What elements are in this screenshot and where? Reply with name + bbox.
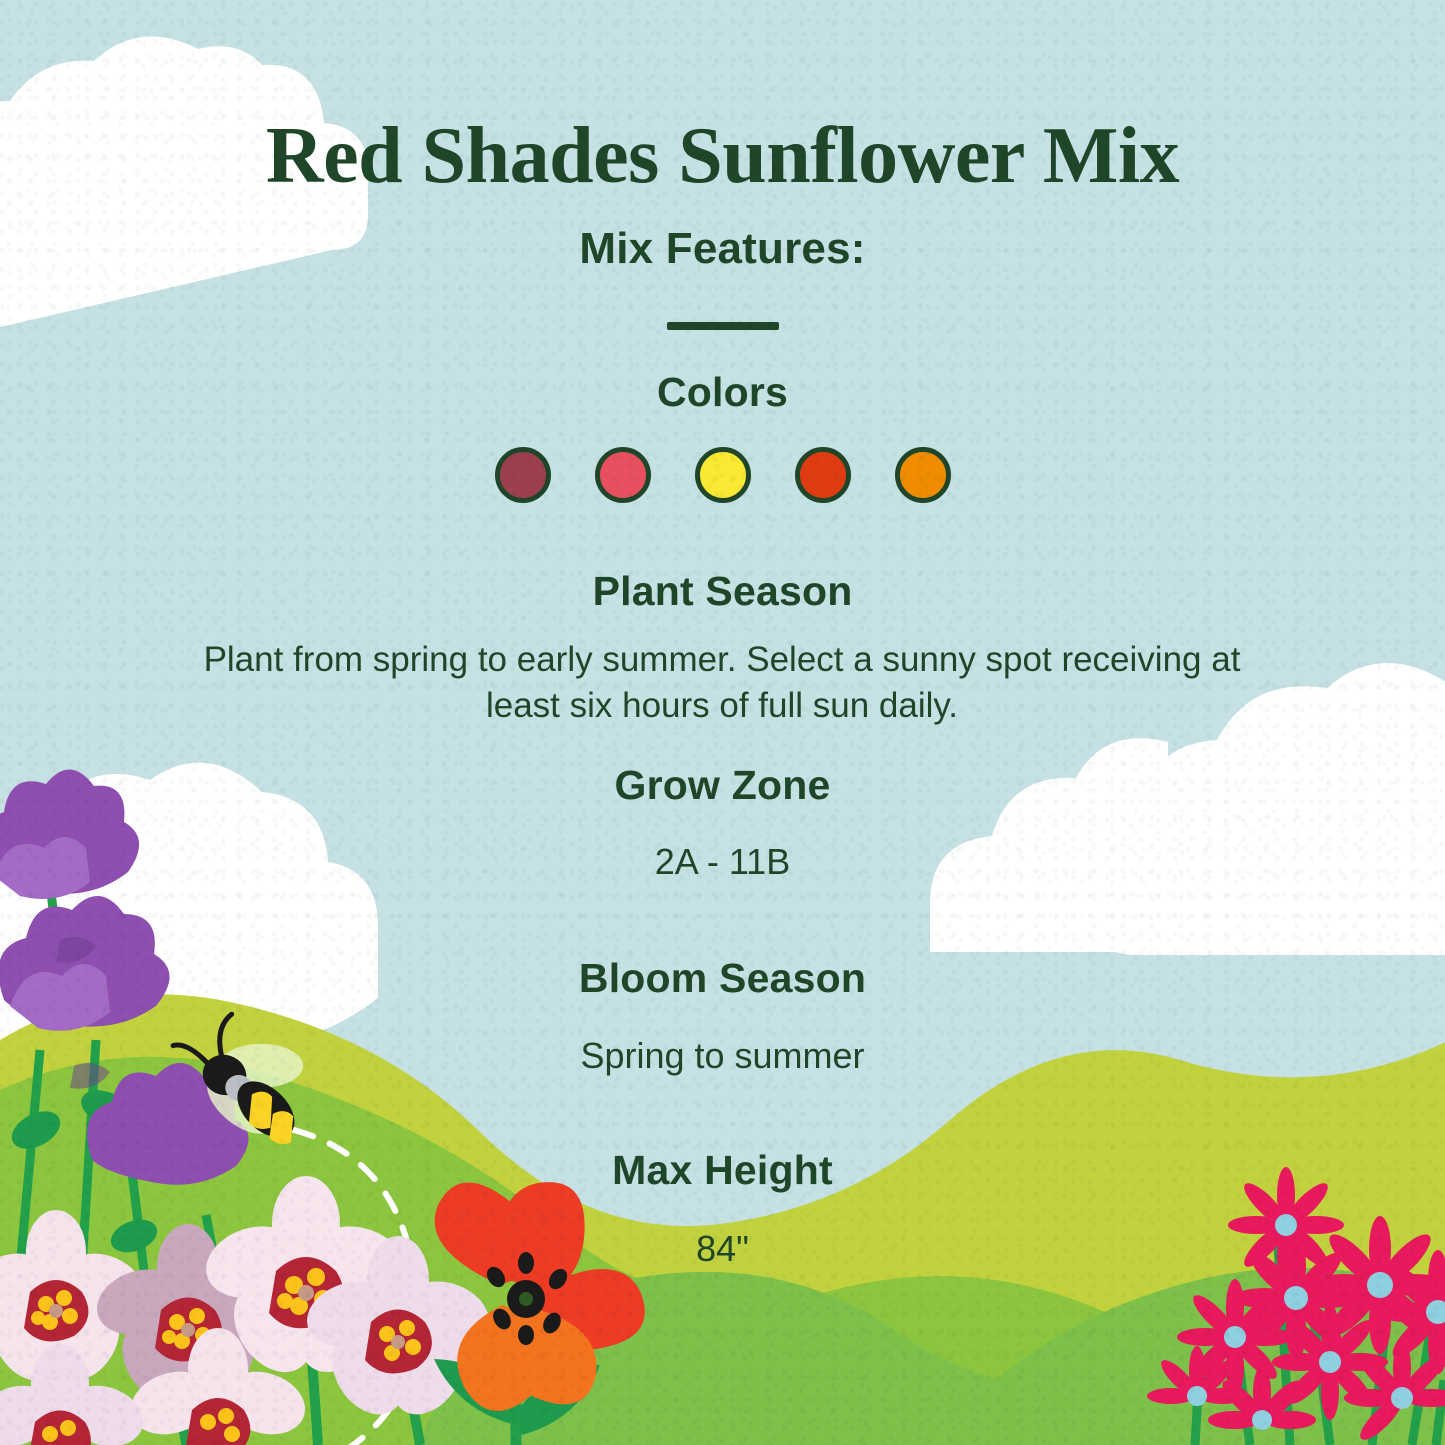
bloom-season-value: Spring to summer (0, 1035, 1445, 1077)
bloom-season-heading: Bloom Season (0, 955, 1445, 1002)
color-swatch-bright-yellow (695, 447, 751, 503)
color-swatch-orange (895, 447, 951, 503)
seed-packet-feature-card: Red Shades Sunflower Mix Mix Features: C… (0, 0, 1445, 1445)
colors-heading: Colors (0, 369, 1445, 416)
plant-season-heading: Plant Season (0, 568, 1445, 615)
mix-features-subtitle: Mix Features: (0, 224, 1445, 274)
plant-season-text: Plant from spring to early summer. Selec… (192, 637, 1252, 729)
section-divider (667, 322, 779, 330)
grow-zone-heading: Grow Zone (0, 762, 1445, 809)
grow-zone-value: 2A - 11B (0, 841, 1445, 883)
color-swatch-row (0, 447, 1445, 503)
max-height-value: 84" (0, 1228, 1445, 1270)
color-swatch-rose-red (595, 447, 651, 503)
page-title: Red Shades Sunflower Mix (0, 113, 1445, 199)
max-height-heading: Max Height (0, 1147, 1445, 1194)
color-swatch-deep-maroon (495, 447, 551, 503)
color-swatch-orange-red (795, 447, 851, 503)
